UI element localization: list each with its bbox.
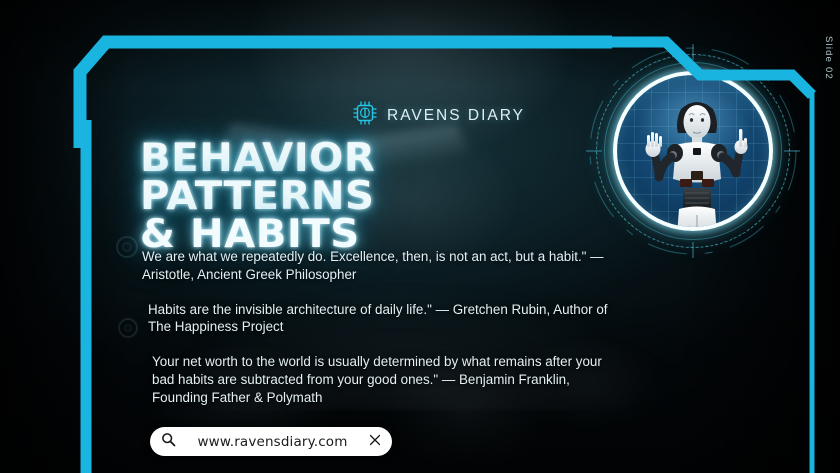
url-text[interactable]: www.ravensdiary.com: [176, 434, 369, 450]
quote-item: Your net worth to the world is usually d…: [142, 353, 612, 406]
hud-ring-decor-1: [116, 236, 138, 258]
url-search-bar[interactable]: www.ravensdiary.com: [150, 427, 392, 456]
slide-number: Slide 02: [823, 36, 834, 80]
robot-illustration: [617, 75, 773, 231]
brand-name: RAVENS DIARY: [387, 107, 525, 125]
quote-item: Habits are the invisible architecture of…: [142, 301, 612, 337]
chip-brain-icon: [352, 100, 378, 131]
quote-item: We are what we repeatedly do. Excellence…: [142, 248, 612, 284]
search-icon[interactable]: [161, 432, 176, 452]
page-title: BEHAVIOR PATTERNS & HABITS: [140, 140, 624, 255]
close-icon[interactable]: [369, 433, 381, 451]
hud-ring-decor-2: [118, 318, 138, 338]
brand-logo: RAVENS DIARY: [352, 100, 525, 131]
slide-canvas: RAVENS DIARY BEHAVIOR PATTERNS & HABITS …: [0, 0, 840, 473]
robot-portrait: [613, 71, 773, 231]
title-line-1: BEHAVIOR PATTERNS: [140, 136, 375, 219]
quote-list: We are what we repeatedly do. Excellence…: [142, 248, 612, 407]
